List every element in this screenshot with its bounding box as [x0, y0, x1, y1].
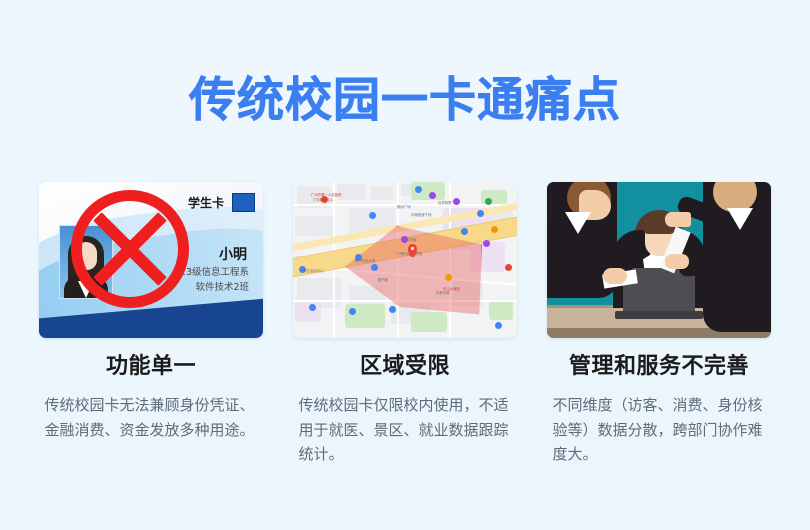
map-label: 图书馆: [378, 277, 388, 282]
overwhelmed-worker-illustration: [547, 182, 771, 338]
map-poi-marker: [415, 186, 422, 193]
map-illustration: 广州市第一人民医院门诊服务中心数码广场百货商厦科学馆电子科技大厦广州职业技术学院…: [293, 182, 517, 338]
map-label: 学生活动中心: [303, 268, 323, 273]
thumbnail-student-id-card: 学生卡 小明 23级信息工程系 软件技术2班: [39, 182, 263, 338]
student-card-label: 学生卡: [188, 194, 224, 211]
map-poi-marker: [477, 210, 484, 217]
student-id-card-illustration: 学生卡 小明 23级信息工程系 软件技术2班: [39, 182, 263, 338]
map-poi-marker: [483, 240, 490, 247]
card-chip-icon: [232, 193, 255, 212]
map-poi-marker: [369, 212, 376, 219]
map-commercial-zone: [295, 300, 321, 322]
map-poi-marker: [485, 198, 492, 205]
map-poi-marker: [349, 308, 356, 315]
map-poi-marker: [461, 228, 468, 235]
map-poi-marker: [429, 192, 436, 199]
slide-root: 传统校园一卡通痛点 学生卡: [0, 0, 810, 530]
map-label: 门诊服务中心: [313, 197, 333, 202]
map-poi-marker: [495, 322, 502, 329]
page-title: 传统校园一卡通痛点: [0, 76, 810, 127]
pain-point-heading: 管理和服务不完善: [569, 354, 749, 380]
student-meta-line1: 23级信息工程系: [180, 266, 249, 281]
pain-point-heading: 区域受限: [360, 354, 450, 380]
map-poi-marker: [505, 264, 512, 271]
map-green-space: [489, 300, 513, 320]
map-green-space: [411, 312, 447, 332]
map-label: 华南快速干线: [411, 212, 431, 217]
student-meta: 23级信息工程系 软件技术2班: [180, 266, 249, 295]
colleague-right-hand: [665, 254, 689, 269]
pain-point-columns: 学生卡 小明 23级信息工程系 软件技术2班: [0, 182, 810, 466]
student-meta-line2: 软件技术2班: [180, 281, 249, 296]
map-poi-marker: [491, 226, 498, 233]
map-label: 数码广场: [397, 204, 411, 209]
thumbnail-map: 广州市第一人民医院门诊服务中心数码广场百货商厦科学馆电子科技大厦广州职业技术学院…: [293, 182, 517, 338]
pain-point-description: 不同维度（访客、消费、身份核验等）数据分散，跨部门协作难度大。: [553, 393, 766, 466]
thumbnail-office-illustration: [547, 182, 771, 338]
pointing-hand-icon: [665, 212, 691, 227]
map-label: 百货商厦: [438, 200, 452, 205]
map-poi-marker: [389, 306, 396, 313]
map-poi-marker: [453, 198, 460, 205]
student-name: 小明: [219, 244, 247, 264]
map-poi-marker: [445, 274, 452, 281]
map-label: 科学馆: [406, 237, 416, 242]
map-label: 体育东路: [436, 290, 450, 295]
map-block: [295, 216, 335, 236]
map-poi-marker: [309, 304, 316, 311]
map-block: [371, 186, 393, 200]
pain-point-card-area-restricted: 广州市第一人民医院门诊服务中心数码广场百货商厦科学馆电子科技大厦广州职业技术学院…: [285, 182, 525, 466]
map-poi-marker: [371, 264, 378, 271]
pain-point-card-feature-limited: 学生卡 小明 23级信息工程系 软件技术2班: [31, 182, 271, 466]
pain-point-card-management-service: 管理和服务不完善 不同维度（访客、消费、身份核验等）数据分散，跨部门协作难度大。: [539, 182, 779, 466]
pain-point-heading: 功能单一: [106, 354, 196, 380]
red-cross-circle-icon: [71, 190, 189, 308]
pain-point-description: 传统校园卡无法兼顾身份凭证、金融消费、资金发放多种用途。: [45, 393, 258, 442]
pain-point-description: 传统校园卡仅限校内使用，不适用于就医、景区、就业数据跟踪统计。: [299, 393, 512, 466]
colleague-left-hand: [603, 268, 627, 284]
map-label: 电子科技大厦: [355, 258, 375, 263]
